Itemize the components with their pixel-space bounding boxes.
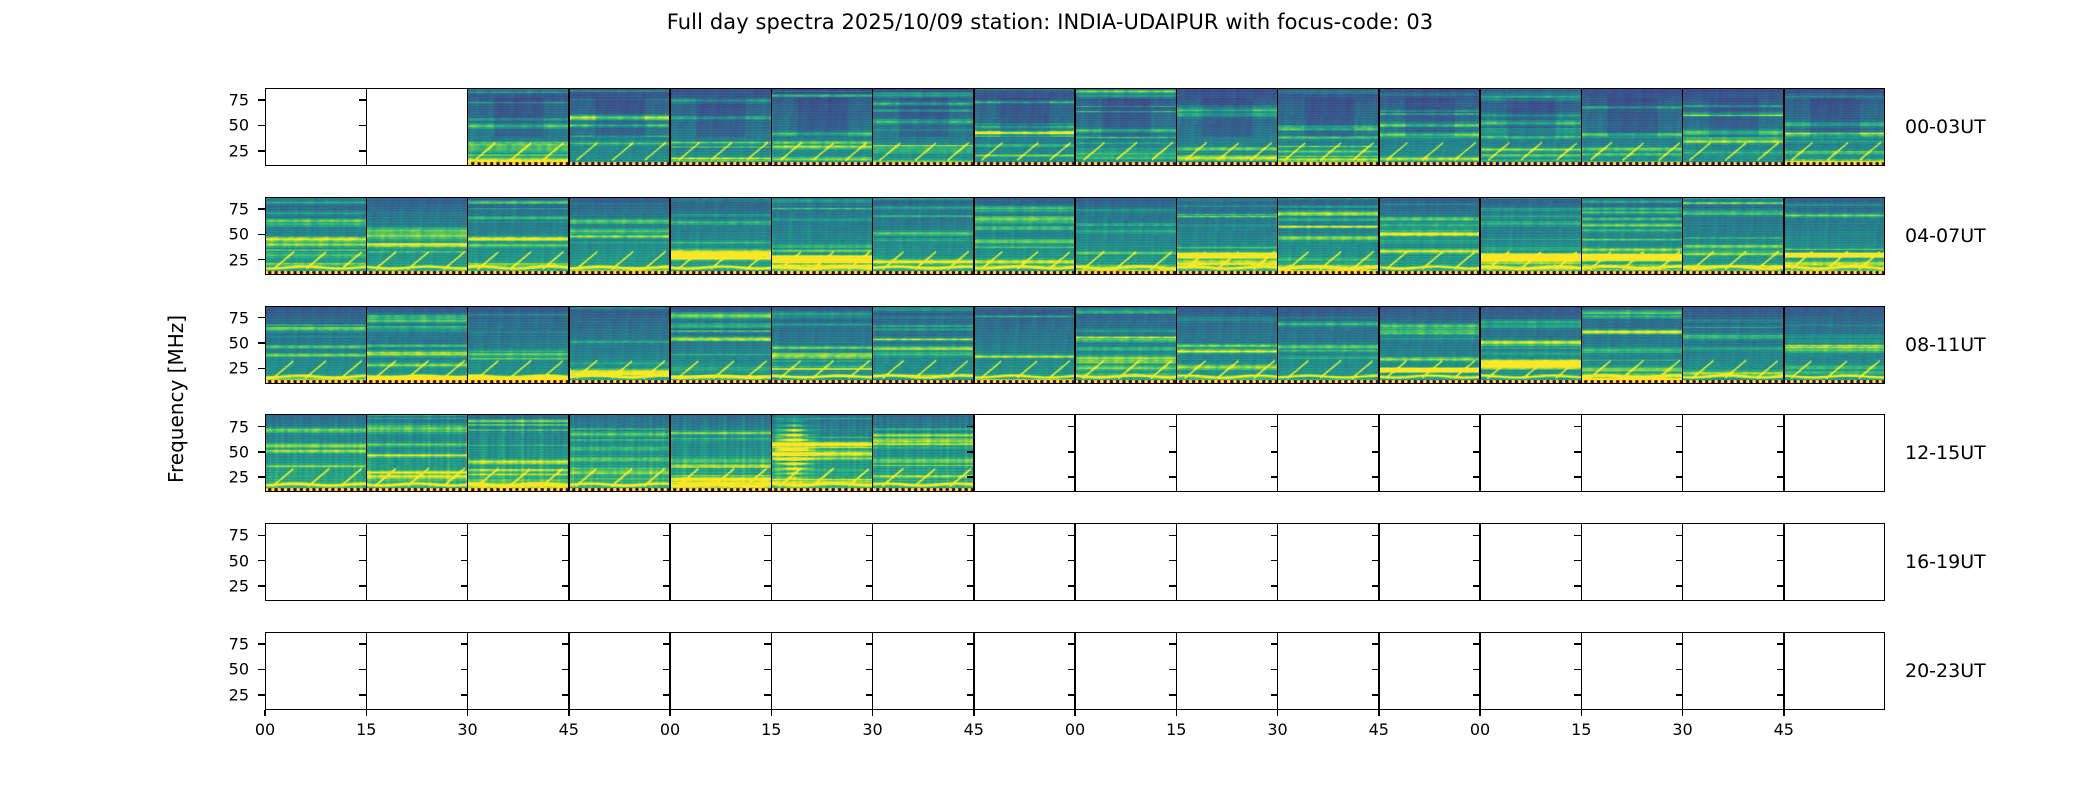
spectrogram-image: [265, 306, 366, 384]
spectrogram-panel: [468, 88, 569, 166]
y-tick-label: 50: [229, 442, 249, 461]
panel-tick-mark: [461, 560, 468, 562]
spectrogram-panel: [1784, 88, 1885, 166]
panel-tick-mark: [866, 560, 873, 562]
panel-tick-mark: [1169, 585, 1176, 587]
spectrogram-panel: [1581, 88, 1682, 166]
spectrogram-panel-empty: [366, 523, 467, 601]
spectrogram-panel: [1683, 88, 1784, 166]
spectrogram-image: [670, 306, 771, 384]
panel-divider: [973, 88, 975, 166]
panel-tick-mark: [1271, 560, 1278, 562]
spectrogram-image: [468, 306, 569, 384]
panel-tick-mark: [1574, 643, 1581, 645]
row-label: 12-15UT: [1905, 442, 1986, 464]
spectrogram-panel: [1278, 88, 1379, 166]
panel-tick-mark: [1676, 694, 1683, 696]
spectrogram-panel-empty: [1784, 632, 1885, 710]
panel-tick-mark: [359, 694, 366, 696]
panel-tick-mark: [1372, 694, 1379, 696]
panel-divider: [467, 197, 469, 275]
panel-divider: [1581, 88, 1583, 166]
x-axis: 00153045001530450015304500153045: [265, 710, 1885, 750]
spectrogram-panel-empty: [468, 523, 569, 601]
y-tick-label: 75: [229, 417, 249, 436]
spectrogram-panel: [366, 306, 467, 384]
spectrogram-panel: [974, 88, 1075, 166]
panel-divider: [1682, 88, 1684, 166]
spectrogram-panel: [1075, 197, 1176, 275]
spectrogram-image: [1683, 197, 1784, 275]
panel-tick-mark: [1271, 694, 1278, 696]
x-tick-label: 15: [356, 720, 376, 739]
panel-divider: [1682, 306, 1684, 384]
y-tick-mark: [258, 476, 265, 478]
spectrogram-panel: [1176, 306, 1277, 384]
panel-divider: [568, 197, 570, 275]
spectrogram-panel: [771, 197, 872, 275]
spectrogram-panel: [670, 306, 771, 384]
panel-tick-mark: [1372, 451, 1379, 453]
panel-tick-mark: [1372, 426, 1379, 428]
panel-tick-mark: [967, 585, 974, 587]
spectrogram-image: [670, 88, 771, 166]
spectrogram-panel-empty: [670, 523, 771, 601]
panel-tick-mark: [1574, 426, 1581, 428]
panel-divider: [1074, 88, 1076, 166]
spectrogram-image: [468, 88, 569, 166]
x-tick-label: 15: [761, 720, 781, 739]
panel-tick-mark: [764, 694, 771, 696]
panel-tick-mark: [562, 560, 569, 562]
y-tick-label: 25: [229, 685, 249, 704]
y-tick-label: 25: [229, 576, 249, 595]
panel-tick-mark: [1473, 476, 1480, 478]
spectrogram-image: [771, 197, 872, 275]
spectrogram-panel: [1278, 306, 1379, 384]
spectrogram-row: 755025: [265, 197, 1885, 275]
panel-tick-mark: [1271, 476, 1278, 478]
panel-tick-mark: [1169, 643, 1176, 645]
panel-divider: [568, 414, 570, 492]
x-tick-mark: [264, 710, 266, 716]
spectrogram-panel: [1075, 88, 1176, 166]
spectrogram-image: [1581, 306, 1682, 384]
spectrogram-image: [1278, 306, 1379, 384]
y-tick-mark: [258, 368, 265, 370]
panel-tick-mark: [1473, 585, 1480, 587]
panel-tick-mark: [359, 125, 366, 127]
spectrogram-panel: [1379, 197, 1480, 275]
spectrogram-image: [468, 414, 569, 492]
panel-tick-mark: [1777, 694, 1784, 696]
panel-tick-mark: [1676, 426, 1683, 428]
spectrogram-panel-empty: [1683, 414, 1784, 492]
panel-tick-mark: [866, 669, 873, 671]
panel-tick-mark: [1169, 669, 1176, 671]
spectrogram-image: [265, 197, 366, 275]
row-label: 00-03UT: [1905, 116, 1986, 138]
spectrogram-panel-empty: [1176, 523, 1277, 601]
panel-tick-mark: [1676, 669, 1683, 671]
x-tick-mark: [973, 710, 975, 716]
spectrogram-image: [873, 88, 974, 166]
panel-divider: [467, 88, 469, 166]
panel-tick-mark: [764, 560, 771, 562]
spectrogram-panel: [366, 414, 467, 492]
spectrogram-image: [1176, 88, 1277, 166]
spectrogram-image: [366, 197, 467, 275]
panel-tick-mark: [1169, 426, 1176, 428]
x-tick-label: 45: [559, 720, 579, 739]
panel-tick-mark: [1777, 476, 1784, 478]
spectrogram-panel: [265, 197, 366, 275]
panel-divider: [1277, 306, 1279, 384]
panel-tick-mark: [461, 643, 468, 645]
panel-tick-mark: [1068, 476, 1075, 478]
spectrogram-image: [1379, 306, 1480, 384]
panel-tick-mark: [1372, 560, 1379, 562]
spectrogram-image: [1683, 88, 1784, 166]
panel-tick-mark: [359, 535, 366, 537]
panel-tick-mark: [1777, 560, 1784, 562]
panel-divider: [1378, 197, 1380, 275]
x-tick-mark: [1277, 710, 1279, 716]
spectrogram-panel-empty: [1278, 523, 1379, 601]
y-tick-mark: [258, 208, 265, 210]
spectrogram-image: [1176, 197, 1277, 275]
spectrogram-panel: [1075, 306, 1176, 384]
x-tick-mark: [467, 710, 469, 716]
panel-tick-mark: [461, 694, 468, 696]
panel-divider: [872, 414, 874, 492]
y-tick-mark: [258, 643, 265, 645]
panel-divider: [1074, 197, 1076, 275]
spectrogram-panel: [1683, 306, 1784, 384]
spectrogram-panel-empty: [1379, 414, 1480, 492]
panel-tick-mark: [1068, 451, 1075, 453]
panel-tick-mark: [967, 669, 974, 671]
panel-divider: [1479, 306, 1481, 384]
spectrogram-panel-empty: [873, 523, 974, 601]
panel-tick-mark: [359, 669, 366, 671]
panel-tick-mark: [1574, 669, 1581, 671]
panel-tick-mark: [562, 694, 569, 696]
spectrogram-panel: [366, 197, 467, 275]
panel-tick-mark: [866, 535, 873, 537]
spectrogram-image: [1480, 306, 1581, 384]
y-tick-mark: [258, 669, 265, 671]
panel-tick-mark: [1068, 535, 1075, 537]
panel-tick-mark: [1676, 643, 1683, 645]
spectrogram-panel: [1581, 197, 1682, 275]
panel-tick-mark: [1169, 476, 1176, 478]
panel-tick-mark: [764, 643, 771, 645]
x-tick-label: 00: [1470, 720, 1490, 739]
panel-tick-mark: [359, 643, 366, 645]
panel-tick-mark: [967, 694, 974, 696]
y-axis-ticks: 755025: [169, 306, 265, 384]
panel-tick-mark: [764, 585, 771, 587]
spectrogram-image: [873, 197, 974, 275]
spectrogram-image: [569, 414, 670, 492]
spectrogram-panel: [974, 306, 1075, 384]
panel-divider: [1176, 197, 1178, 275]
spectrogram-panel-empty: [1176, 632, 1277, 710]
spectrogram-panel-empty: [1480, 414, 1581, 492]
spectrogram-panel-empty: [974, 414, 1075, 492]
y-axis-ticks: 755025: [169, 197, 265, 275]
y-tick-label: 25: [229, 250, 249, 269]
panel-tick-mark: [663, 535, 670, 537]
spectrogram-panel: [873, 414, 974, 492]
spectrogram-panel: [468, 306, 569, 384]
spectrogram-image: [771, 306, 872, 384]
spectrogram-panel: [670, 414, 771, 492]
spectrogram-image: [670, 414, 771, 492]
x-tick-label: 00: [1065, 720, 1085, 739]
panel-divider: [669, 306, 671, 384]
panel-tick-mark: [1372, 535, 1379, 537]
row-label: 20-23UT: [1905, 660, 1986, 682]
y-tick-mark: [258, 426, 265, 428]
y-tick-label: 25: [229, 468, 249, 487]
panel-divider: [1783, 88, 1785, 166]
panel-tick-mark: [1676, 476, 1683, 478]
x-tick-label: 45: [1774, 720, 1794, 739]
y-tick-mark: [258, 694, 265, 696]
spectrogram-panel: [873, 306, 974, 384]
spectrogram-panel: [1784, 197, 1885, 275]
panel-divider: [771, 306, 773, 384]
y-tick-mark: [258, 259, 265, 261]
x-tick-label: 30: [1672, 720, 1692, 739]
panel-tick-mark: [764, 535, 771, 537]
panel-divider: [669, 414, 671, 492]
x-tick-mark: [872, 710, 874, 716]
spectrogram-panel-empty: [1784, 414, 1885, 492]
panel-tick-mark: [461, 535, 468, 537]
spectrogram-image: [1480, 88, 1581, 166]
spectrogram-panel: [569, 414, 670, 492]
spectrogram-image: [1581, 88, 1682, 166]
spectrogram-image: [1278, 88, 1379, 166]
panel-divider: [1176, 88, 1178, 166]
panel-tick-mark: [1271, 535, 1278, 537]
spectrogram-panel: [974, 197, 1075, 275]
panel-divider: [366, 414, 368, 492]
panel-tick-mark: [562, 535, 569, 537]
y-tick-mark: [258, 125, 265, 127]
panel-tick-mark: [1777, 669, 1784, 671]
spectrogram-panel: [1379, 88, 1480, 166]
spectrogram-panel-empty: [1480, 632, 1581, 710]
panel-tick-mark: [1068, 694, 1075, 696]
y-tick-mark: [258, 317, 265, 319]
spectrogram-image: [1379, 197, 1480, 275]
spectrogram-image: [265, 414, 366, 492]
panel-tick-mark: [1372, 476, 1379, 478]
spectrogram-panel: [265, 306, 366, 384]
y-tick-label: 75: [229, 199, 249, 218]
y-tick-mark: [258, 585, 265, 587]
spectrogram-image: [366, 306, 467, 384]
spectrogram-panel: [771, 306, 872, 384]
y-tick-mark: [258, 99, 265, 101]
panel-tick-mark: [1169, 560, 1176, 562]
panel-divider: [1479, 197, 1481, 275]
panel-divider: [973, 197, 975, 275]
spectrogram-panel-empty: [1379, 523, 1480, 601]
y-axis-ticks: 755025: [169, 88, 265, 166]
spectrogram-panel-empty: [974, 523, 1075, 601]
y-tick-label: 50: [229, 660, 249, 679]
y-tick-mark: [258, 451, 265, 453]
panel-tick-mark: [359, 585, 366, 587]
panel-tick-mark: [1271, 643, 1278, 645]
spectrogram-panel-empty: [366, 632, 467, 710]
panel-tick-mark: [1169, 694, 1176, 696]
spectrogram-panel: [771, 414, 872, 492]
panel-tick-mark: [1473, 560, 1480, 562]
spectrogram-image: [771, 88, 872, 166]
panel-tick-mark: [461, 585, 468, 587]
spectrogram-image: [1379, 88, 1480, 166]
panel-divider: [973, 306, 975, 384]
spectrogram-image: [1683, 306, 1784, 384]
panel-divider: [1378, 88, 1380, 166]
spectrogram-image: [1480, 197, 1581, 275]
spectrogram-panel-empty: [974, 632, 1075, 710]
y-tick-label: 25: [229, 141, 249, 160]
y-tick-mark: [258, 560, 265, 562]
spectrogram-panel: [670, 197, 771, 275]
panel-tick-mark: [1068, 585, 1075, 587]
spectrogram-panel: [1683, 197, 1784, 275]
panel-tick-mark: [1271, 451, 1278, 453]
x-tick-mark: [771, 710, 773, 716]
panel-tick-mark: [562, 643, 569, 645]
spectrogram-panel: [771, 88, 872, 166]
spectrogram-row: 755025: [265, 414, 1885, 492]
panel-tick-mark: [1169, 535, 1176, 537]
spectrogram-panel: [1480, 306, 1581, 384]
spectrogram-row: 755025: [265, 632, 1885, 710]
x-tick-mark: [1176, 710, 1178, 716]
spectrogram-panel: [468, 414, 569, 492]
spectrogram-panel-empty: [670, 632, 771, 710]
spectrogram-panel-empty: [1075, 414, 1176, 492]
panel-divider: [771, 88, 773, 166]
x-tick-mark: [1479, 710, 1481, 716]
panel-tick-mark: [866, 694, 873, 696]
panel-tick-mark: [1574, 476, 1581, 478]
spectrogram-panel-empty: [1784, 523, 1885, 601]
panel-tick-mark: [1473, 426, 1480, 428]
panel-tick-mark: [967, 560, 974, 562]
panel-tick-mark: [461, 669, 468, 671]
y-tick-label: 50: [229, 551, 249, 570]
spectrogram-panel-empty: [265, 523, 366, 601]
spectrogram-panel: [1176, 197, 1277, 275]
spectrogram-panel: [265, 414, 366, 492]
panel-tick-mark: [359, 150, 366, 152]
spectrogram-image: [569, 306, 670, 384]
panel-tick-mark: [1676, 451, 1683, 453]
panel-tick-mark: [764, 669, 771, 671]
spectrogram-panel-empty: [771, 523, 872, 601]
spectrogram-panel-empty: [569, 523, 670, 601]
panel-tick-mark: [1777, 535, 1784, 537]
panel-tick-mark: [663, 585, 670, 587]
panel-tick-mark: [1574, 535, 1581, 537]
spectrogram-image: [1278, 197, 1379, 275]
panel-divider: [568, 306, 570, 384]
panel-tick-mark: [1574, 451, 1581, 453]
spectrogram-panel: [569, 197, 670, 275]
spectrogram-panel-empty: [873, 632, 974, 710]
panel-tick-mark: [1473, 694, 1480, 696]
spectrogram-panel-empty: [1278, 414, 1379, 492]
y-tick-label: 75: [229, 526, 249, 545]
panel-tick-mark: [1372, 643, 1379, 645]
spectrogram-panel-empty: [1480, 523, 1581, 601]
panel-divider: [669, 88, 671, 166]
spectrogram-image: [974, 197, 1075, 275]
panel-tick-mark: [967, 426, 974, 428]
spectrogram-panel-empty: [1075, 523, 1176, 601]
spectrogram-grid: 00-03UT75502504-07UT75502508-11UT7550251…: [265, 88, 1885, 710]
x-tick-mark: [1378, 710, 1380, 716]
x-tick-label: 30: [1267, 720, 1287, 739]
y-tick-mark: [258, 535, 265, 537]
spectrogram-panel: [1176, 88, 1277, 166]
panel-divider: [1378, 306, 1380, 384]
spectrogram-image: [670, 197, 771, 275]
panel-tick-mark: [1473, 643, 1480, 645]
spectrogram-image: [1784, 197, 1885, 275]
spectrogram-image: [1075, 197, 1176, 275]
x-tick-label: 00: [255, 720, 275, 739]
x-tick-label: 30: [457, 720, 477, 739]
panel-tick-mark: [967, 535, 974, 537]
spectrogram-panel-empty: [1683, 523, 1784, 601]
x-tick-label: 45: [964, 720, 984, 739]
panel-divider: [872, 197, 874, 275]
panel-tick-mark: [1777, 585, 1784, 587]
spectrogram-image: [1075, 306, 1176, 384]
spectrogram-image: [1784, 306, 1885, 384]
panel-tick-mark: [359, 99, 366, 101]
panel-divider: [1783, 197, 1785, 275]
panel-divider: [1783, 306, 1785, 384]
panel-divider: [872, 306, 874, 384]
panel-divider: [1277, 197, 1279, 275]
x-tick-mark: [1682, 710, 1684, 716]
spectrogram-panel-empty: [1379, 632, 1480, 710]
spectrogram-panel: [873, 197, 974, 275]
panel-divider: [1682, 197, 1684, 275]
x-tick-mark: [669, 710, 671, 716]
x-tick-label: 15: [1166, 720, 1186, 739]
panel-tick-mark: [1271, 426, 1278, 428]
spectrogram-panel: [569, 306, 670, 384]
spectrogram-panel-empty: [468, 632, 569, 710]
panel-divider: [872, 88, 874, 166]
y-tick-label: 50: [229, 334, 249, 353]
panel-tick-mark: [359, 560, 366, 562]
spectrogram-panel: [1379, 306, 1480, 384]
